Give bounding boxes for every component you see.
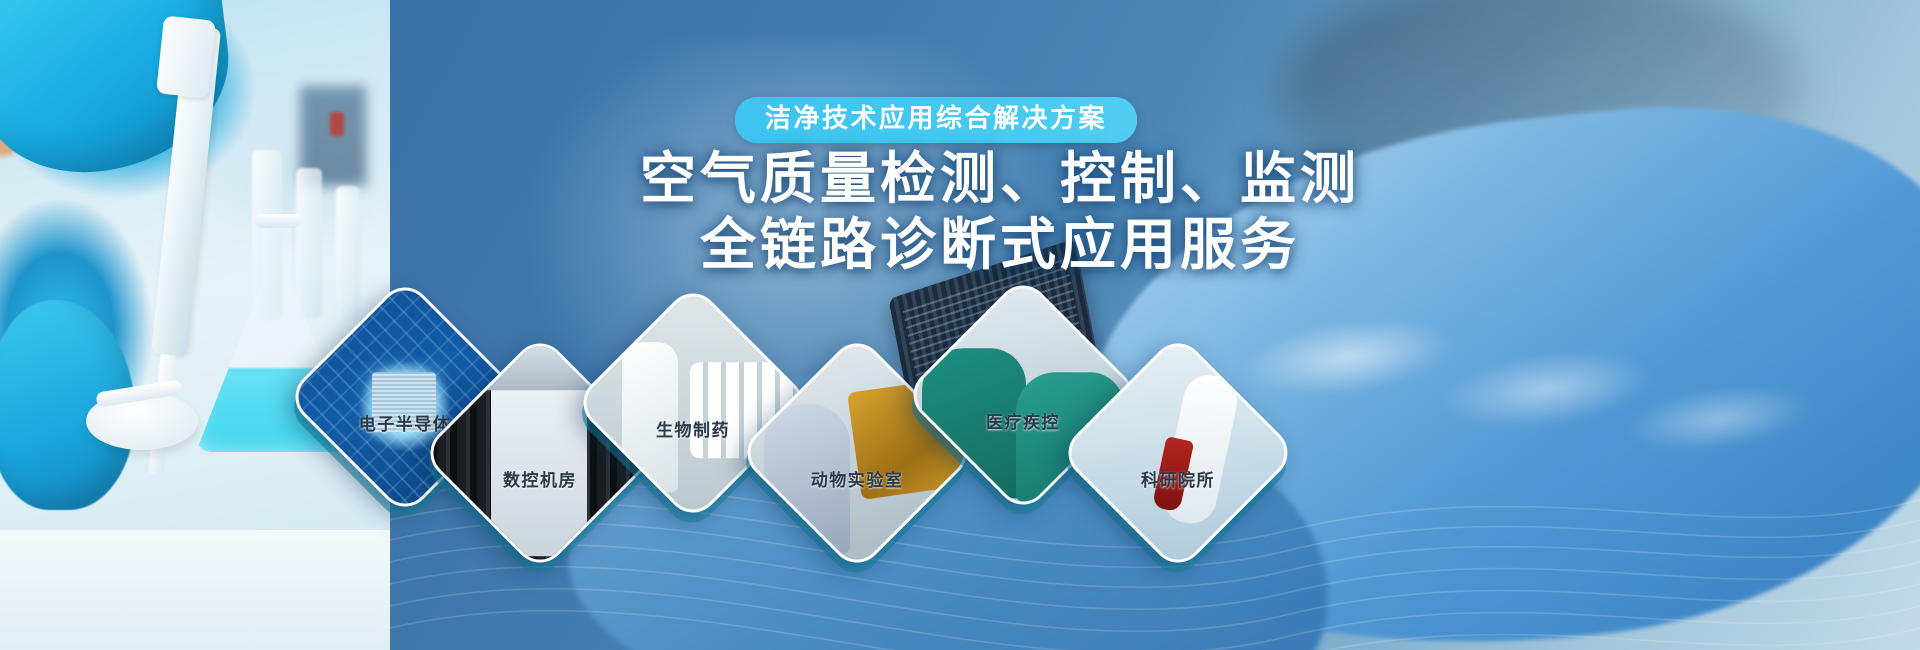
card-frame <box>1058 333 1298 573</box>
hero-banner: 洁净技术应用综合解决方案 空气质量检测、控制、监测 全链路诊断式应用服务 电子半… <box>0 0 1920 650</box>
research-institute-icon <box>1058 334 1298 573</box>
industry-card-list: 电子半导体 数控机房 生物制药 动物实验室 医疗疾控 <box>0 0 1920 650</box>
industry-card-research[interactable]: 科研院所 <box>1093 368 1263 538</box>
card-label: 科研院所 <box>1051 466 1305 491</box>
